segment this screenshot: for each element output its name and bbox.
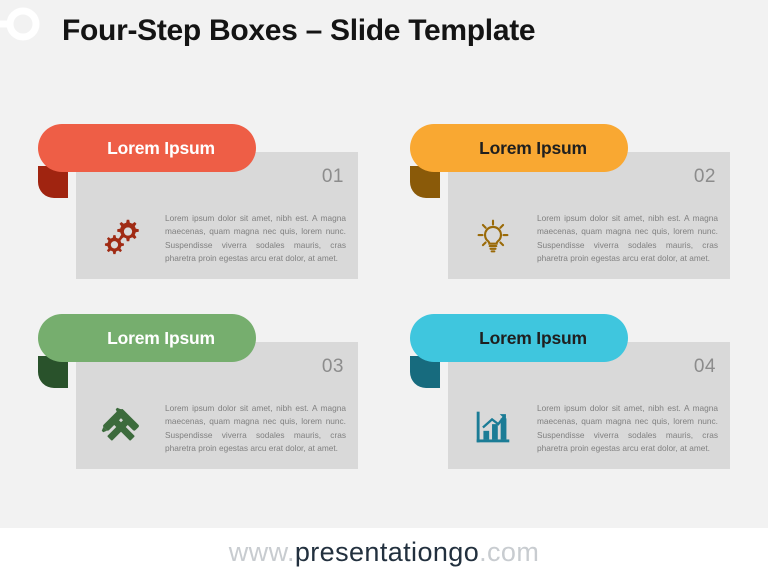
url-brand: presentationgo <box>295 537 479 567</box>
url-prefix: www. <box>229 537 295 567</box>
lightbulb-icon <box>470 214 516 260</box>
step-number-2: 02 <box>694 166 716 188</box>
step-body-1: Lorem ipsum dolor sit amet, nibh est. A … <box>165 212 346 266</box>
slide-canvas: Four-Step Boxes – Slide Template 01 Lore <box>0 0 768 528</box>
step-number-3: 03 <box>322 356 344 378</box>
step-tab-4[interactable]: Lorem Ipsum <box>410 314 628 362</box>
step-body-2: Lorem ipsum dolor sit amet, nibh est. A … <box>537 212 718 266</box>
step-number-1: 01 <box>322 166 344 188</box>
step-number-4: 04 <box>694 356 716 378</box>
step-box-4[interactable]: 04 Lorem ipsum dolor <box>410 314 730 490</box>
bar-chart-growth-icon <box>470 404 516 450</box>
step-tab-2[interactable]: Lorem Ipsum <box>410 124 628 172</box>
step-tab-label-2: Lorem Ipsum <box>451 138 587 159</box>
step-body-3: Lorem ipsum dolor sit amet, nibh est. A … <box>165 402 346 456</box>
step-body-4: Lorem ipsum dolor sit amet, nibh est. A … <box>537 402 718 456</box>
page-title: Four-Step Boxes – Slide Template <box>62 14 722 48</box>
slide-root: Four-Step Boxes – Slide Template 01 Lore <box>0 0 768 576</box>
step-box-2[interactable]: 02 <box>410 124 730 300</box>
site-url[interactable]: www.presentationgo.com <box>229 537 539 568</box>
step-box-3[interactable]: 03 <box>38 314 358 490</box>
presentationgo-logo-icon <box>0 3 44 45</box>
step-tab-3[interactable]: Lorem Ipsum <box>38 314 256 362</box>
footer: www.presentationgo.com <box>0 528 768 576</box>
step-tab-1[interactable]: Lorem Ipsum <box>38 124 256 172</box>
url-suffix: .com <box>479 537 539 567</box>
crossed-hammers-icon <box>98 404 144 450</box>
step-tab-label-1: Lorem Ipsum <box>79 138 215 159</box>
step-tab-label-3: Lorem Ipsum <box>79 328 215 349</box>
step-tab-label-4: Lorem Ipsum <box>451 328 587 349</box>
step-box-1[interactable]: 01 Lorem ipsum dolor sit amet, nibh est.… <box>38 124 358 300</box>
gears-icon <box>98 214 144 260</box>
